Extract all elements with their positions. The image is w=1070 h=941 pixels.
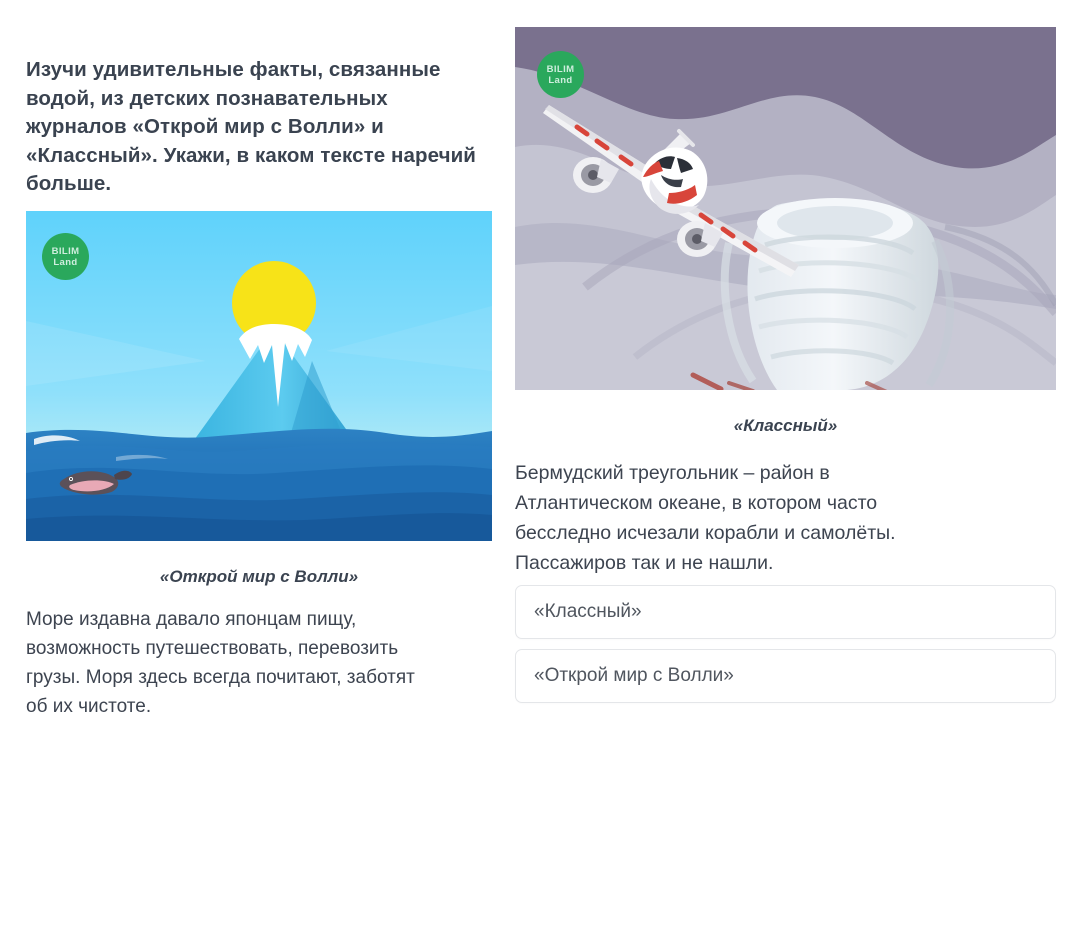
left-text-line: грузы. Моря здесь всегда почитают, забот…: [26, 663, 492, 692]
fuji-sea-illustration: BILIM Land: [26, 211, 492, 541]
left-text-line: Море издавна давало японцам пищу,: [26, 605, 492, 634]
bilim-land-logo: BILIM Land: [537, 51, 584, 98]
airplane-tornado-svg: [515, 27, 1056, 390]
right-source-text: Бермудский треугольник – район в Атланти…: [515, 458, 1056, 578]
airplane-tornado-illustration: BILIM Land: [515, 27, 1056, 390]
logo-line-1: BILIM: [52, 246, 80, 257]
right-text-line: Бермудский треугольник – район в: [515, 458, 1056, 488]
left-source-caption: «Открой мир с Волли»: [26, 567, 492, 587]
lesson-question-page: Изучи удивительные факты, связанные водо…: [0, 0, 1070, 941]
bilim-land-logo: BILIM Land: [42, 233, 89, 280]
left-text-line: возможность путешествовать, перевозить: [26, 634, 492, 663]
right-source-caption: «Классный»: [515, 416, 1056, 436]
right-text-line: бесследно исчезали корабли и самолёты.: [515, 518, 1056, 548]
right-text-line: Пассажиров так и не нашли.: [515, 548, 1056, 578]
fuji-sea-svg: [26, 211, 492, 541]
plane-nose: [652, 150, 704, 196]
right-column: BILIM Land «Классный» Бермудский треугол…: [515, 0, 1056, 941]
answer-option-otkroy-mir-s-volli[interactable]: «Открой мир с Волли»: [515, 649, 1056, 703]
left-text-line: об их чистоте.: [26, 692, 492, 721]
logo-line-2: Land: [53, 257, 77, 268]
question-prompt: Изучи удивительные факты, связанные водо…: [26, 56, 492, 199]
answer-option-label: «Открой мир с Волли»: [534, 665, 734, 687]
right-text-line: Атлантическом океане, в котором часто: [515, 488, 1056, 518]
left-column: Изучи удивительные факты, связанные водо…: [26, 0, 492, 941]
left-source-text: Море издавна давало японцам пищу, возмож…: [26, 605, 492, 721]
logo-line-1: BILIM: [547, 64, 575, 75]
answer-option-klassny[interactable]: «Классный»: [515, 585, 1056, 639]
answer-option-label: «Классный»: [534, 601, 642, 623]
answer-options-list: «Классный» «Открой мир с Волли»: [515, 585, 1056, 713]
logo-line-2: Land: [548, 75, 572, 86]
